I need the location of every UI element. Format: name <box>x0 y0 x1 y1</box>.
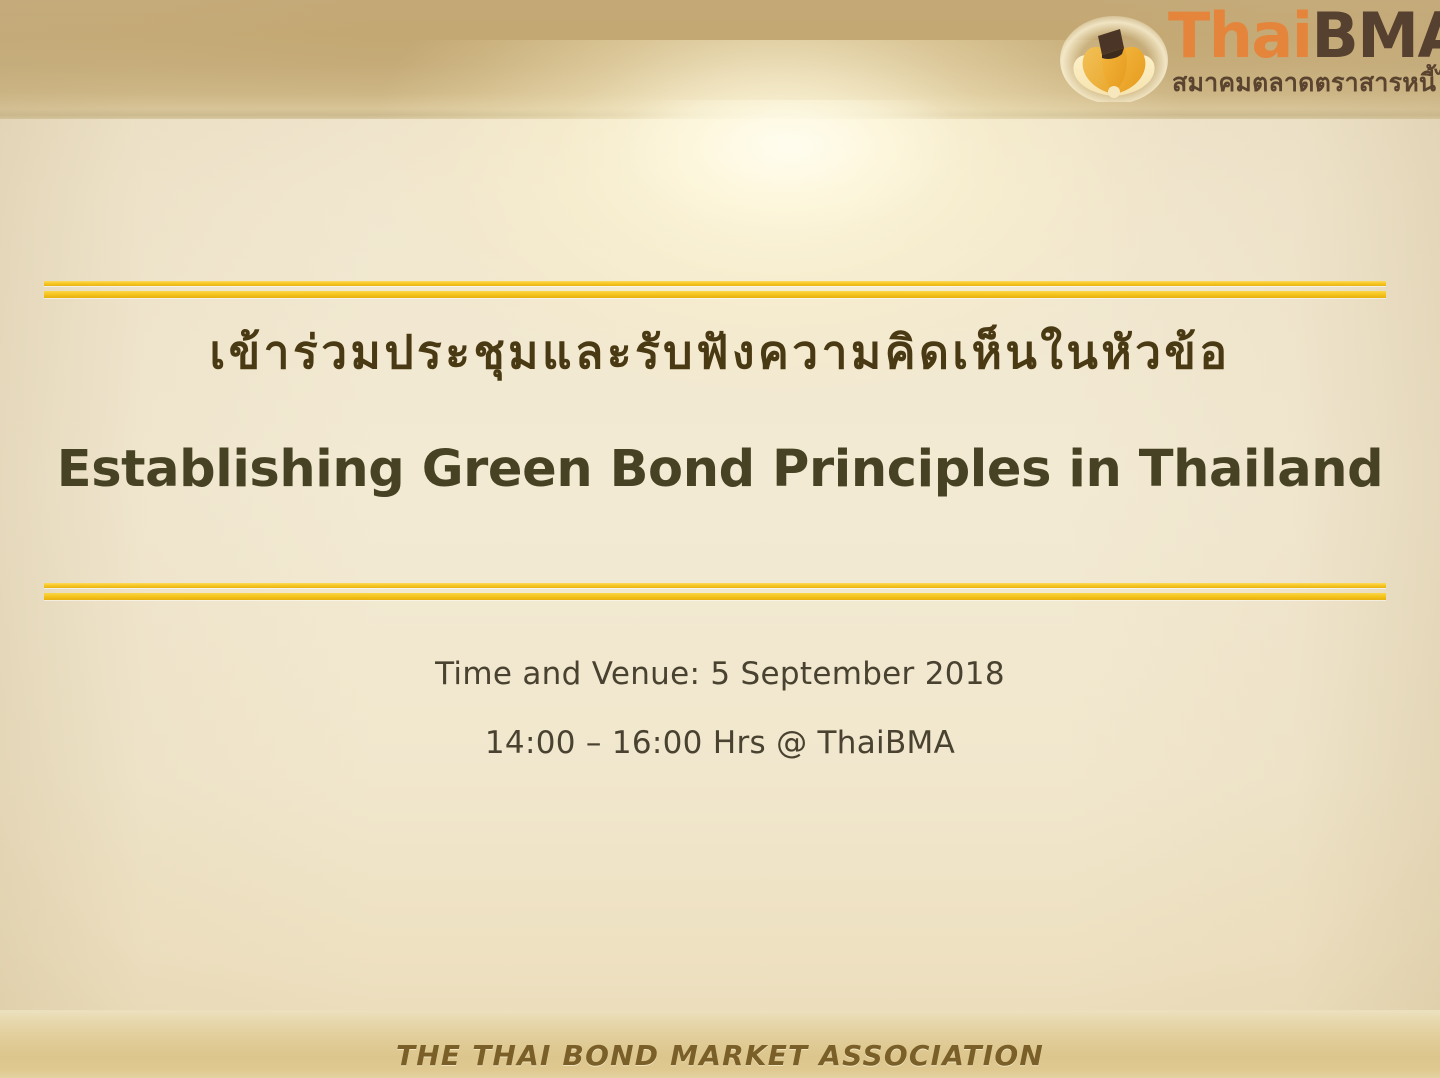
divider-rule-top <box>44 281 1386 299</box>
page-title: Establishing Green Bond Principles in Th… <box>0 437 1440 503</box>
lotus-flower-icon <box>1058 10 1170 102</box>
rule-thick-line <box>44 291 1386 298</box>
venue-date-line: Time and Venue: 5 September 2018 <box>0 653 1440 695</box>
divider-rule-bottom <box>44 583 1386 601</box>
rule-thick-line <box>44 593 1386 600</box>
venue-time-line: 14:00 – 16:00 Hrs @ ThaiBMA <box>0 722 1440 764</box>
slide-background <box>0 0 1440 1078</box>
logo-subtitle-thai: สมาคมตลาดตราสารหนี้ไทย <box>1172 68 1440 98</box>
rule-thin-line <box>44 281 1386 286</box>
presentation-slide: ThaiBMA สมาคมตลาดตราสารหนี้ไทย เข้าร่วมป… <box>0 0 1440 1078</box>
logo-word-bma: BMA <box>1312 0 1440 72</box>
rule-thin-line <box>44 583 1386 588</box>
logo-word-thai: Thai <box>1168 0 1312 72</box>
thaibma-logo[interactable]: ThaiBMA สมาคมตลาดตราสารหนี้ไทย <box>1050 4 1422 104</box>
thai-subtitle-heading: เข้าร่วมประชุมและรับฟังความคิดเห็นในหัวข… <box>0 322 1440 382</box>
logo-wordmark: ThaiBMA <box>1168 4 1440 68</box>
footer-organization-name: THE THAI BOND MARKET ASSOCIATION <box>0 1039 1440 1072</box>
